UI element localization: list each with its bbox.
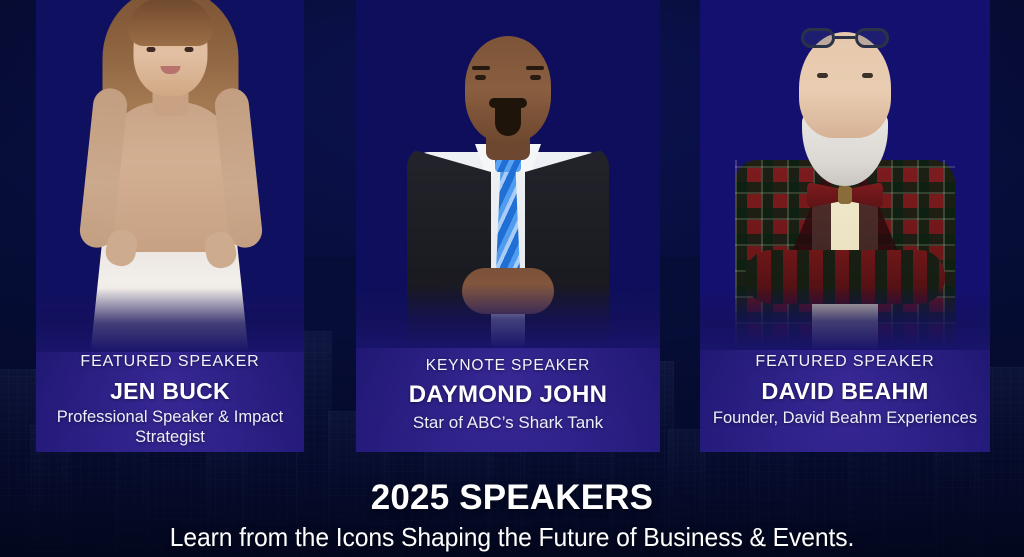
speaker-card[interactable]: FEATURED SPEAKER JEN BUCK Professional S… <box>36 0 304 452</box>
speaker-name: JEN BUCK <box>44 378 296 405</box>
speaker-card-row: FEATURED SPEAKER JEN BUCK Professional S… <box>0 0 1024 460</box>
banner-footer: 2025 SPEAKERS Learn from the Icons Shapi… <box>0 480 1024 553</box>
speaker-name: DAVID BEAHM <box>708 378 982 406</box>
speaker-caption: KEYNOTE SPEAKER DAYMOND JOHN Star of ABC… <box>356 356 660 433</box>
speaker-photo <box>36 0 304 352</box>
page-title: 2025 SPEAKERS <box>0 480 1024 517</box>
speaker-description: Star of ABC’s Shark Tank <box>364 413 652 433</box>
speaker-description: Professional Speaker & Impact Strategist <box>44 408 296 447</box>
speaker-card[interactable]: KEYNOTE SPEAKER DAYMOND JOHN Star of ABC… <box>356 0 660 452</box>
speaker-photo <box>700 0 990 350</box>
speaker-caption: FEATURED SPEAKER DAVID BEAHM Founder, Da… <box>700 352 990 428</box>
speaker-role: FEATURED SPEAKER <box>708 352 982 372</box>
speaker-role: FEATURED SPEAKER <box>44 352 296 372</box>
eyeglasses-icon <box>801 28 889 50</box>
speaker-description: Founder, David Beahm Experiences <box>708 409 982 428</box>
speaker-name: DAYMOND JOHN <box>364 381 652 409</box>
speaker-caption: FEATURED SPEAKER JEN BUCK Professional S… <box>36 352 304 447</box>
speaker-card[interactable]: FEATURED SPEAKER DAVID BEAHM Founder, Da… <box>700 0 990 452</box>
speaker-photo <box>356 0 660 348</box>
speaker-role: KEYNOTE SPEAKER <box>364 356 652 375</box>
speakers-banner: FEATURED SPEAKER JEN BUCK Professional S… <box>0 0 1024 557</box>
page-subtitle: Learn from the Icons Shaping the Future … <box>26 522 999 553</box>
